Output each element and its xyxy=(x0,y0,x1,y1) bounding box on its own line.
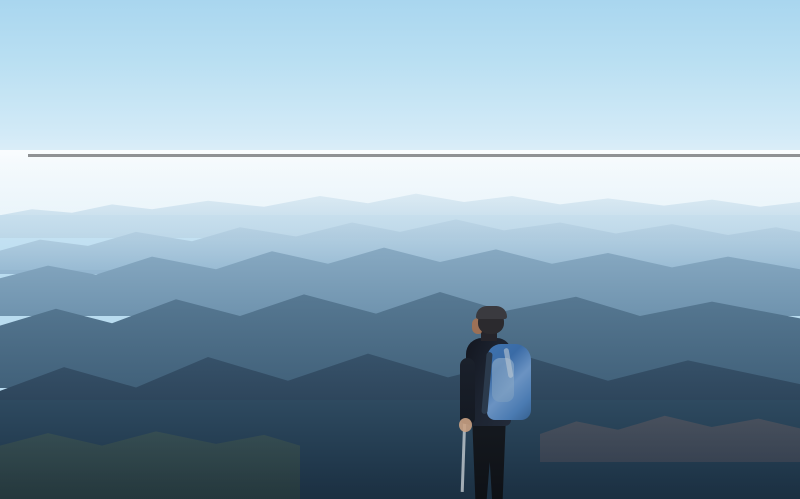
hiker-figure xyxy=(440,300,550,499)
hiker-arm xyxy=(460,358,475,424)
hiker-legs xyxy=(470,422,508,499)
hiker-cap xyxy=(476,306,507,319)
timeline-infographic xyxy=(0,0,800,499)
timeline-axis xyxy=(28,154,800,157)
hiker-hand xyxy=(459,418,472,432)
